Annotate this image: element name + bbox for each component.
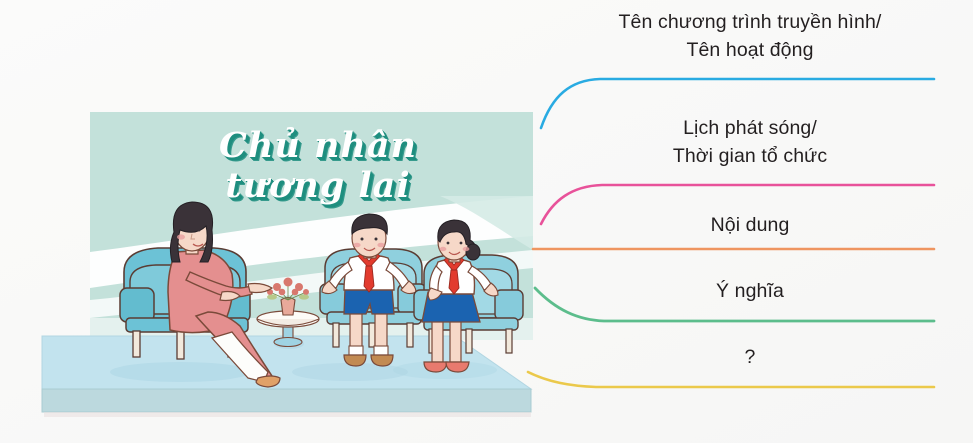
screenshot-canvas: Chủ nhân tương lai Tên chương trình truy… [0,0,973,443]
illustration-svg [0,0,973,443]
